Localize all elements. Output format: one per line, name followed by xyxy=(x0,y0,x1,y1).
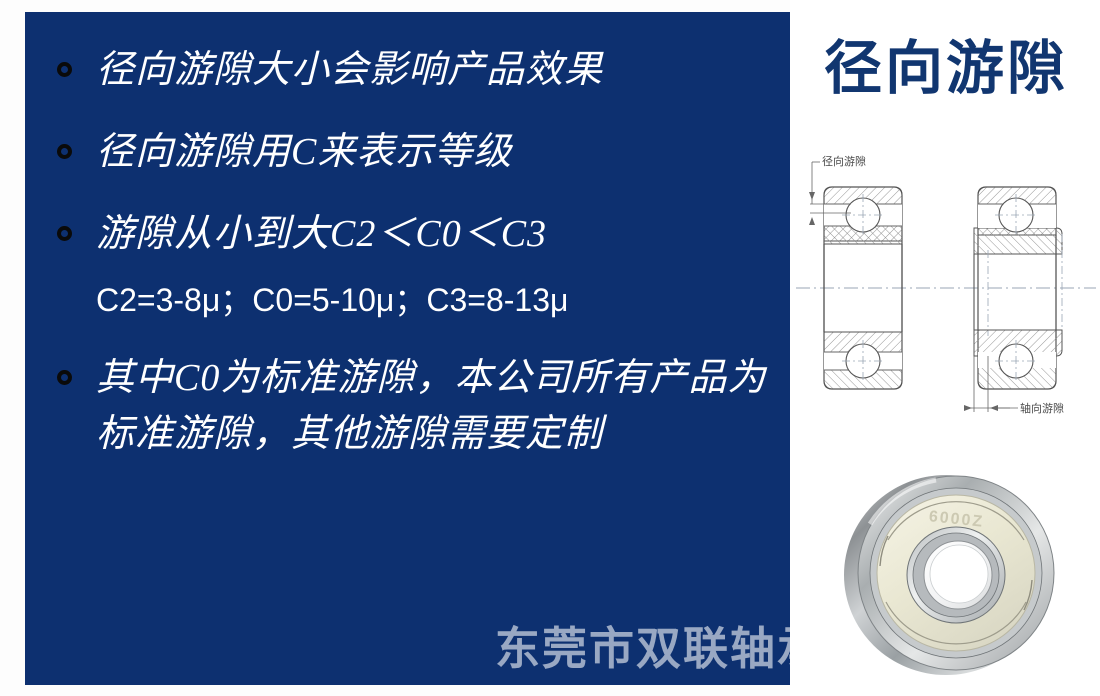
info-panel: 径向游隙大小会影响产品效果 径向游隙用C来表示等级 游隙从小到大C2＜C0＜C3… xyxy=(25,12,790,685)
slide-canvas: 径向游隙大小会影响产品效果 径向游隙用C来表示等级 游隙从小到大C2＜C0＜C3… xyxy=(0,0,1100,696)
list-item: 其中C0为标准游隙，本公司所有产品为标准游隙，其他游隙需要定制 xyxy=(57,350,772,462)
bullet-text-3: 游隙从小到大C2＜C0＜C3 xyxy=(96,206,547,262)
bearing-product-photo: 6000Z xyxy=(828,462,1074,688)
bullet-text-5: 其中C0为标准游隙，本公司所有产品为标准游隙，其他游隙需要定制 xyxy=(96,350,772,462)
bullet-text-1: 径向游隙大小会影响产品效果 xyxy=(96,42,603,98)
bullet-list: 径向游隙大小会影响产品效果 径向游隙用C来表示等级 游隙从小到大C2＜C0＜C3… xyxy=(25,12,790,489)
page-title: 径向游隙 xyxy=(810,40,1082,98)
list-item: 径向游隙用C来表示等级 xyxy=(57,124,772,180)
list-item: 游隙从小到大C2＜C0＜C3 xyxy=(57,206,772,262)
watermark-left: 东莞市双联轴承 xyxy=(495,612,790,677)
bullet-text-2: 径向游隙用C来表示等级 xyxy=(96,124,512,180)
ring-bullet-icon xyxy=(57,144,72,159)
bearing-clearance-diagram: 径向游隙 xyxy=(796,140,1096,440)
right-column: 径向游隙 xyxy=(790,0,1100,696)
ring-bullet-icon xyxy=(57,62,72,77)
diagram-label-radial: 径向游隙 xyxy=(822,154,866,168)
ring-bullet-icon xyxy=(57,370,72,385)
list-item-sub: C2=3-8μ；C0=5-10μ；C3=8-13μ xyxy=(57,277,772,324)
ring-bullet-icon xyxy=(57,226,72,241)
list-item: 径向游隙大小会影响产品效果 xyxy=(57,42,772,98)
clearance-values-text: C2=3-8μ；C0=5-10μ；C3=8-13μ xyxy=(96,277,568,324)
diagram-label-axial: 轴向游隙 xyxy=(1020,401,1064,415)
